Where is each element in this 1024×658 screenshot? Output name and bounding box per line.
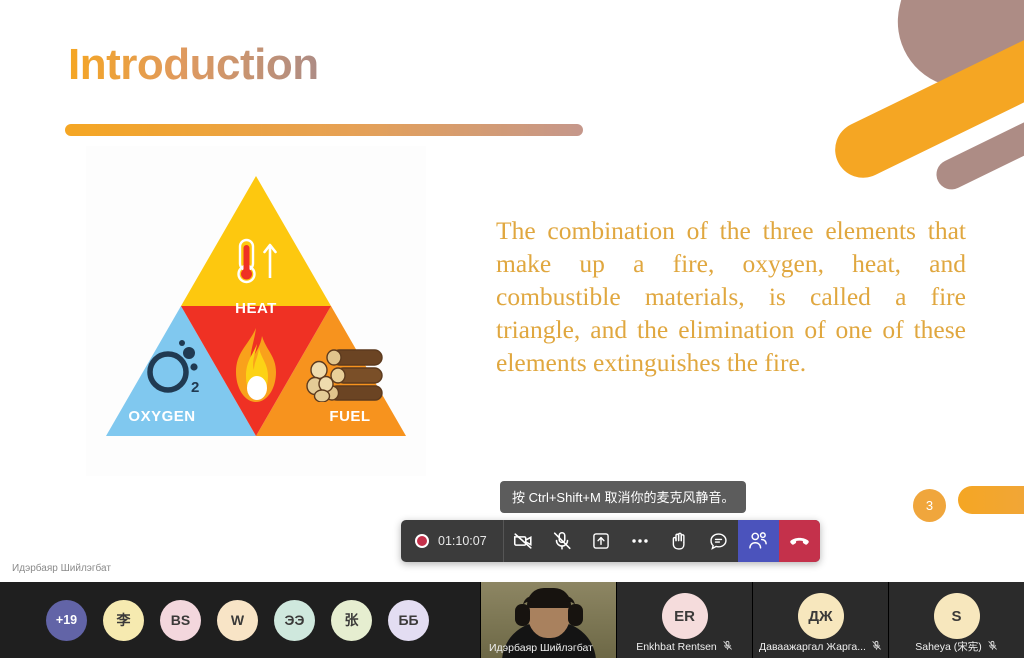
triangle-label-fuel: FUEL <box>304 408 396 425</box>
title-underline-rule <box>65 124 583 136</box>
avatar[interactable]: BS <box>160 600 201 641</box>
participant-name: Enkhbat Rentsen <box>617 640 752 654</box>
share-icon <box>591 531 611 551</box>
meeting-control-toolbar: 01:10:07 <box>401 520 820 562</box>
participant-tile[interactable]: ДЖ Даваажаргал Жарга... <box>752 582 888 658</box>
participant-avatar-strip: +19 李 BS W ЭЭ 张 ББ <box>0 582 480 658</box>
chat-icon <box>708 531 729 552</box>
slide-page-number: 3 <box>913 489 946 522</box>
participant-tile-video[interactable]: Идэрбаяр Шийлэгбат <box>480 582 616 658</box>
participant-tile[interactable]: S Saheya (宋宪) <box>888 582 1024 658</box>
avatar[interactable]: 李 <box>103 600 144 641</box>
avatar[interactable]: ЭЭ <box>274 600 315 641</box>
muted-mic-icon <box>987 640 998 654</box>
avatar-overflow-count[interactable]: +19 <box>46 600 87 641</box>
mic-off-icon <box>551 530 573 552</box>
raised-hand-icon <box>669 531 690 552</box>
more-options-button[interactable] <box>621 520 660 562</box>
decorative-right-bar <box>958 486 1024 514</box>
presenter-name-label: Идэрбаяр Шийлэгбат <box>12 563 111 574</box>
recording-timer: 01:10:07 <box>438 534 487 548</box>
flame-icon <box>228 326 284 406</box>
avatar: S <box>934 593 980 639</box>
participant-tile[interactable]: ER Enkhbat Rentsen <box>616 582 752 658</box>
mic-off-button[interactable] <box>543 520 582 562</box>
share-screen-button[interactable] <box>582 520 621 562</box>
participant-tiles: Идэрбаяр Шийлэгбат ER Enkhbat Rentsen Д <box>480 582 1024 658</box>
ellipsis-icon <box>629 530 651 552</box>
avatar[interactable]: ББ <box>388 600 429 641</box>
participant-name: Даваажаргал Жарга... <box>753 640 888 654</box>
people-icon <box>747 530 769 552</box>
participant-bar: +19 李 BS W ЭЭ 张 ББ Идэрбаяр Ший <box>0 582 1024 658</box>
logs-icon <box>306 348 384 402</box>
muted-mic-icon <box>871 640 882 654</box>
svg-text:2: 2 <box>191 379 199 396</box>
avatar[interactable]: 张 <box>331 600 372 641</box>
camera-off-icon <box>512 530 534 552</box>
raise-hand-button[interactable] <box>660 520 699 562</box>
meeting-screen-share-window: Introduction <box>0 0 1024 658</box>
hangup-button[interactable] <box>779 520 820 562</box>
avatar: ДЖ <box>798 593 844 639</box>
people-button[interactable] <box>738 520 779 562</box>
thermometer-icon <box>228 238 284 286</box>
slide-body-text: The combination of the three elements th… <box>496 214 966 379</box>
muted-mic-icon <box>722 640 733 654</box>
chat-button[interactable] <box>699 520 738 562</box>
recording-indicator: 01:10:07 <box>401 520 504 562</box>
triangle-label-heat: HEAT <box>106 300 406 317</box>
mic-shortcut-tooltip: 按 Ctrl+Shift+M 取消你的麦克风静音。 <box>500 481 746 513</box>
slide-title: Introduction <box>68 40 319 90</box>
record-dot-icon <box>415 534 429 548</box>
oxygen-molecule-icon: 2 <box>140 336 214 398</box>
camera-off-button[interactable] <box>504 520 543 562</box>
avatar: ER <box>662 593 708 639</box>
participant-name: Saheya (宋宪) <box>889 639 1024 654</box>
fire-triangle-figure: 2 <box>86 146 426 476</box>
participant-name: Идэрбаяр Шийлэгбат <box>481 642 616 654</box>
avatar[interactable]: W <box>217 600 258 641</box>
hangup-icon <box>788 530 811 553</box>
triangle-label-oxygen: OXYGEN <box>114 408 210 425</box>
